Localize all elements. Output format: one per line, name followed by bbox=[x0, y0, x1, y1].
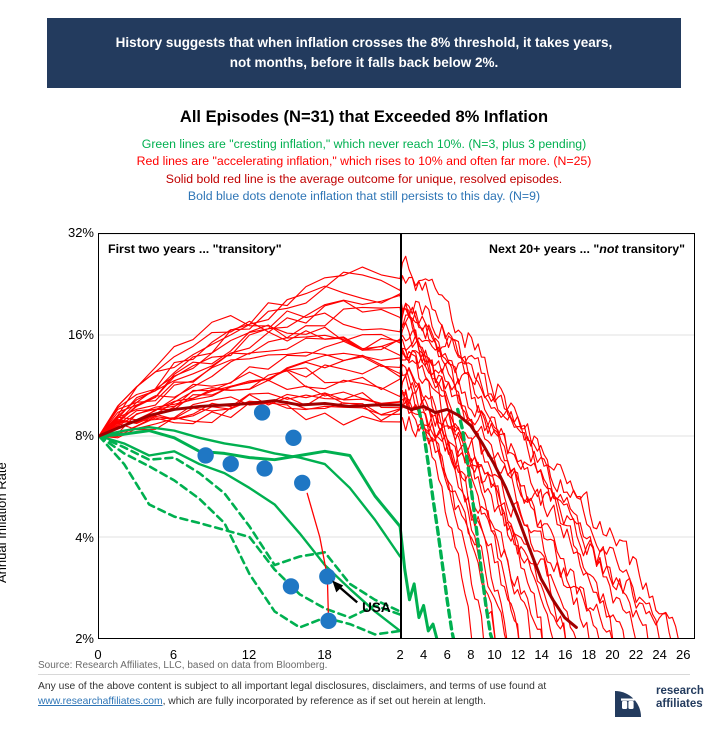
blue-dot-1 bbox=[285, 430, 301, 446]
blue-dot-8 bbox=[320, 613, 336, 629]
legend-line-red: Red lines are "accelerating inflation," … bbox=[0, 153, 728, 170]
y-tick-2: 2% bbox=[38, 631, 94, 646]
usa-annotation-label: USA bbox=[362, 600, 391, 615]
legend-line-green: Green lines are "cresting inflation," wh… bbox=[0, 136, 728, 153]
header-banner: History suggests that when inflation cro… bbox=[47, 18, 681, 88]
y-tick-8: 8% bbox=[38, 428, 94, 443]
source-text: Source: Research Affiliates, LLC, based … bbox=[38, 660, 618, 671]
blue-dot-2 bbox=[197, 447, 213, 463]
blue-dot-4 bbox=[256, 460, 272, 476]
y-tick-32: 32% bbox=[38, 225, 94, 240]
research-affiliates-logo: research affiliates bbox=[613, 678, 713, 718]
y-tick-16: 16% bbox=[38, 327, 94, 342]
x-tick-right-22: 22 bbox=[629, 647, 643, 662]
panel-divider bbox=[400, 234, 402, 638]
banner-line-2: not months, before it falls back below 2… bbox=[230, 55, 499, 70]
logo-mark-icon bbox=[613, 679, 651, 717]
panel-label-right: Next 20+ years ... "not transitory" bbox=[489, 242, 685, 256]
logo-line-2: affiliates bbox=[656, 698, 704, 711]
banner-line-1: History suggests that when inflation cro… bbox=[116, 35, 613, 50]
legend-description: Green lines are "cresting inflation," wh… bbox=[0, 136, 728, 206]
x-tick-right-24: 24 bbox=[652, 647, 666, 662]
y-axis-title: Annual Inflation Rate bbox=[0, 462, 9, 583]
chart-lines bbox=[99, 234, 694, 638]
footer: Source: Research Affiliates, LLC, based … bbox=[38, 660, 618, 710]
plot-panel: First two years ... "transitory" Next 20… bbox=[98, 233, 695, 639]
x-tick-right-26: 26 bbox=[676, 647, 690, 662]
panel-label-right-post: transitory" bbox=[619, 242, 685, 256]
legend-line-bluedots: Bold blue dots denote inflation that sti… bbox=[0, 188, 728, 205]
blue-dot-6 bbox=[283, 578, 299, 594]
disclaimer-text: Any use of the above content is subject … bbox=[38, 680, 618, 710]
legend-line-average: Solid bold red line is the average outco… bbox=[0, 171, 728, 188]
blue-dot-0 bbox=[254, 404, 270, 420]
disclaimer-part-a: Any use of the above content is subject … bbox=[38, 681, 546, 692]
y-tick-4: 4% bbox=[38, 530, 94, 545]
banner-text: History suggests that when inflation cro… bbox=[116, 33, 613, 72]
logo-line-1: research bbox=[656, 685, 704, 698]
disclaimer-part-b: , which are fully incorporated by refere… bbox=[163, 696, 486, 707]
chart-title: All Episodes (N=31) that Exceeded 8% Inf… bbox=[0, 108, 728, 127]
panel-label-right-emph: not bbox=[599, 242, 618, 256]
panel-label-right-pre: Next 20+ years ... " bbox=[489, 242, 599, 256]
logo-text: research affiliates bbox=[656, 685, 704, 711]
research-affiliates-link[interactable]: www.researchaffiliates.com bbox=[38, 696, 163, 707]
blue-dot-3 bbox=[223, 456, 239, 472]
y-axis-tick-labels: 2%4%8%16%32% bbox=[34, 228, 94, 634]
chart-plot-area: Annual Inflation Rate 2%4%8%16%32% First… bbox=[0, 228, 728, 648]
blue-dot-5 bbox=[294, 475, 310, 491]
panel-label-left: First two years ... "transitory" bbox=[108, 242, 282, 256]
footer-divider-rule bbox=[38, 674, 690, 675]
